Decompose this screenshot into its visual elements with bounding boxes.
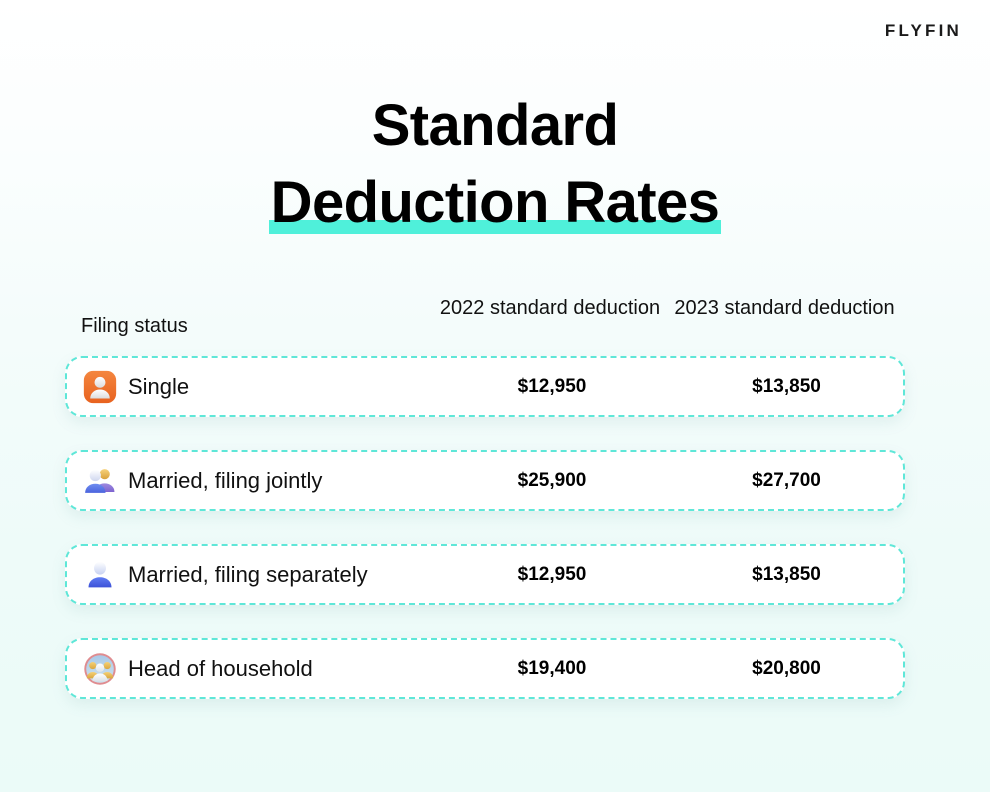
row-amount-2023: $20,800 bbox=[666, 658, 907, 680]
header-label-2022: 2022 standard deduction bbox=[436, 294, 664, 323]
row-label: Head of household bbox=[128, 656, 313, 682]
row-amount-2023: $13,850 bbox=[666, 376, 907, 398]
header-label-filing-status: Filing status bbox=[81, 294, 436, 341]
header-label-2023: 2023 standard deduction bbox=[664, 294, 905, 323]
row-amount-2022: $19,400 bbox=[438, 658, 666, 680]
header-cell-2023: 2023 standard deduction bbox=[664, 294, 905, 323]
page-title: Standard Deduction Rates bbox=[0, 88, 990, 241]
row-amount-2023: $13,850 bbox=[666, 564, 907, 586]
row-amount-2022: $12,950 bbox=[438, 376, 666, 398]
page-title-line-1: Standard bbox=[0, 88, 990, 165]
header-cell-filing-status: Filing status bbox=[81, 294, 436, 341]
row-label: Single bbox=[128, 374, 189, 400]
row-amount-2023: $27,700 bbox=[666, 470, 907, 492]
flyfin-logo: FLYFIN bbox=[885, 21, 962, 41]
table-row[interactable]: Married, filing jointly $25,900 $27,700 bbox=[65, 450, 905, 511]
row-amount-2022: $25,900 bbox=[438, 470, 666, 492]
table-row[interactable]: Single $12,950 $13,850 bbox=[65, 356, 905, 417]
table-row[interactable]: Married, filing separately $12,950 $13,8… bbox=[65, 544, 905, 605]
two-people-icon bbox=[83, 464, 117, 498]
row-status-cell: Married, filing separately bbox=[83, 558, 438, 592]
row-status-cell: Head of household bbox=[83, 652, 438, 686]
table-header-row: Filing status 2022 standard deduction 20… bbox=[65, 294, 905, 356]
single-person-icon bbox=[83, 370, 117, 404]
row-status-cell: Single bbox=[83, 370, 438, 404]
row-label: Married, filing separately bbox=[128, 562, 368, 588]
row-status-cell: Married, filing jointly bbox=[83, 464, 438, 498]
header-cell-2022: 2022 standard deduction bbox=[436, 294, 664, 323]
table-row[interactable]: Head of household $19,400 $20,800 bbox=[65, 638, 905, 699]
row-amount-2022: $12,950 bbox=[438, 564, 666, 586]
page-title-line-2-wrapper: Deduction Rates bbox=[269, 165, 722, 242]
row-label: Married, filing jointly bbox=[128, 468, 322, 494]
standard-deduction-table: Filing status 2022 standard deduction 20… bbox=[65, 294, 905, 699]
person-bust-icon bbox=[83, 558, 117, 592]
family-group-icon bbox=[83, 652, 117, 686]
page-title-line-2: Deduction Rates bbox=[271, 170, 720, 235]
